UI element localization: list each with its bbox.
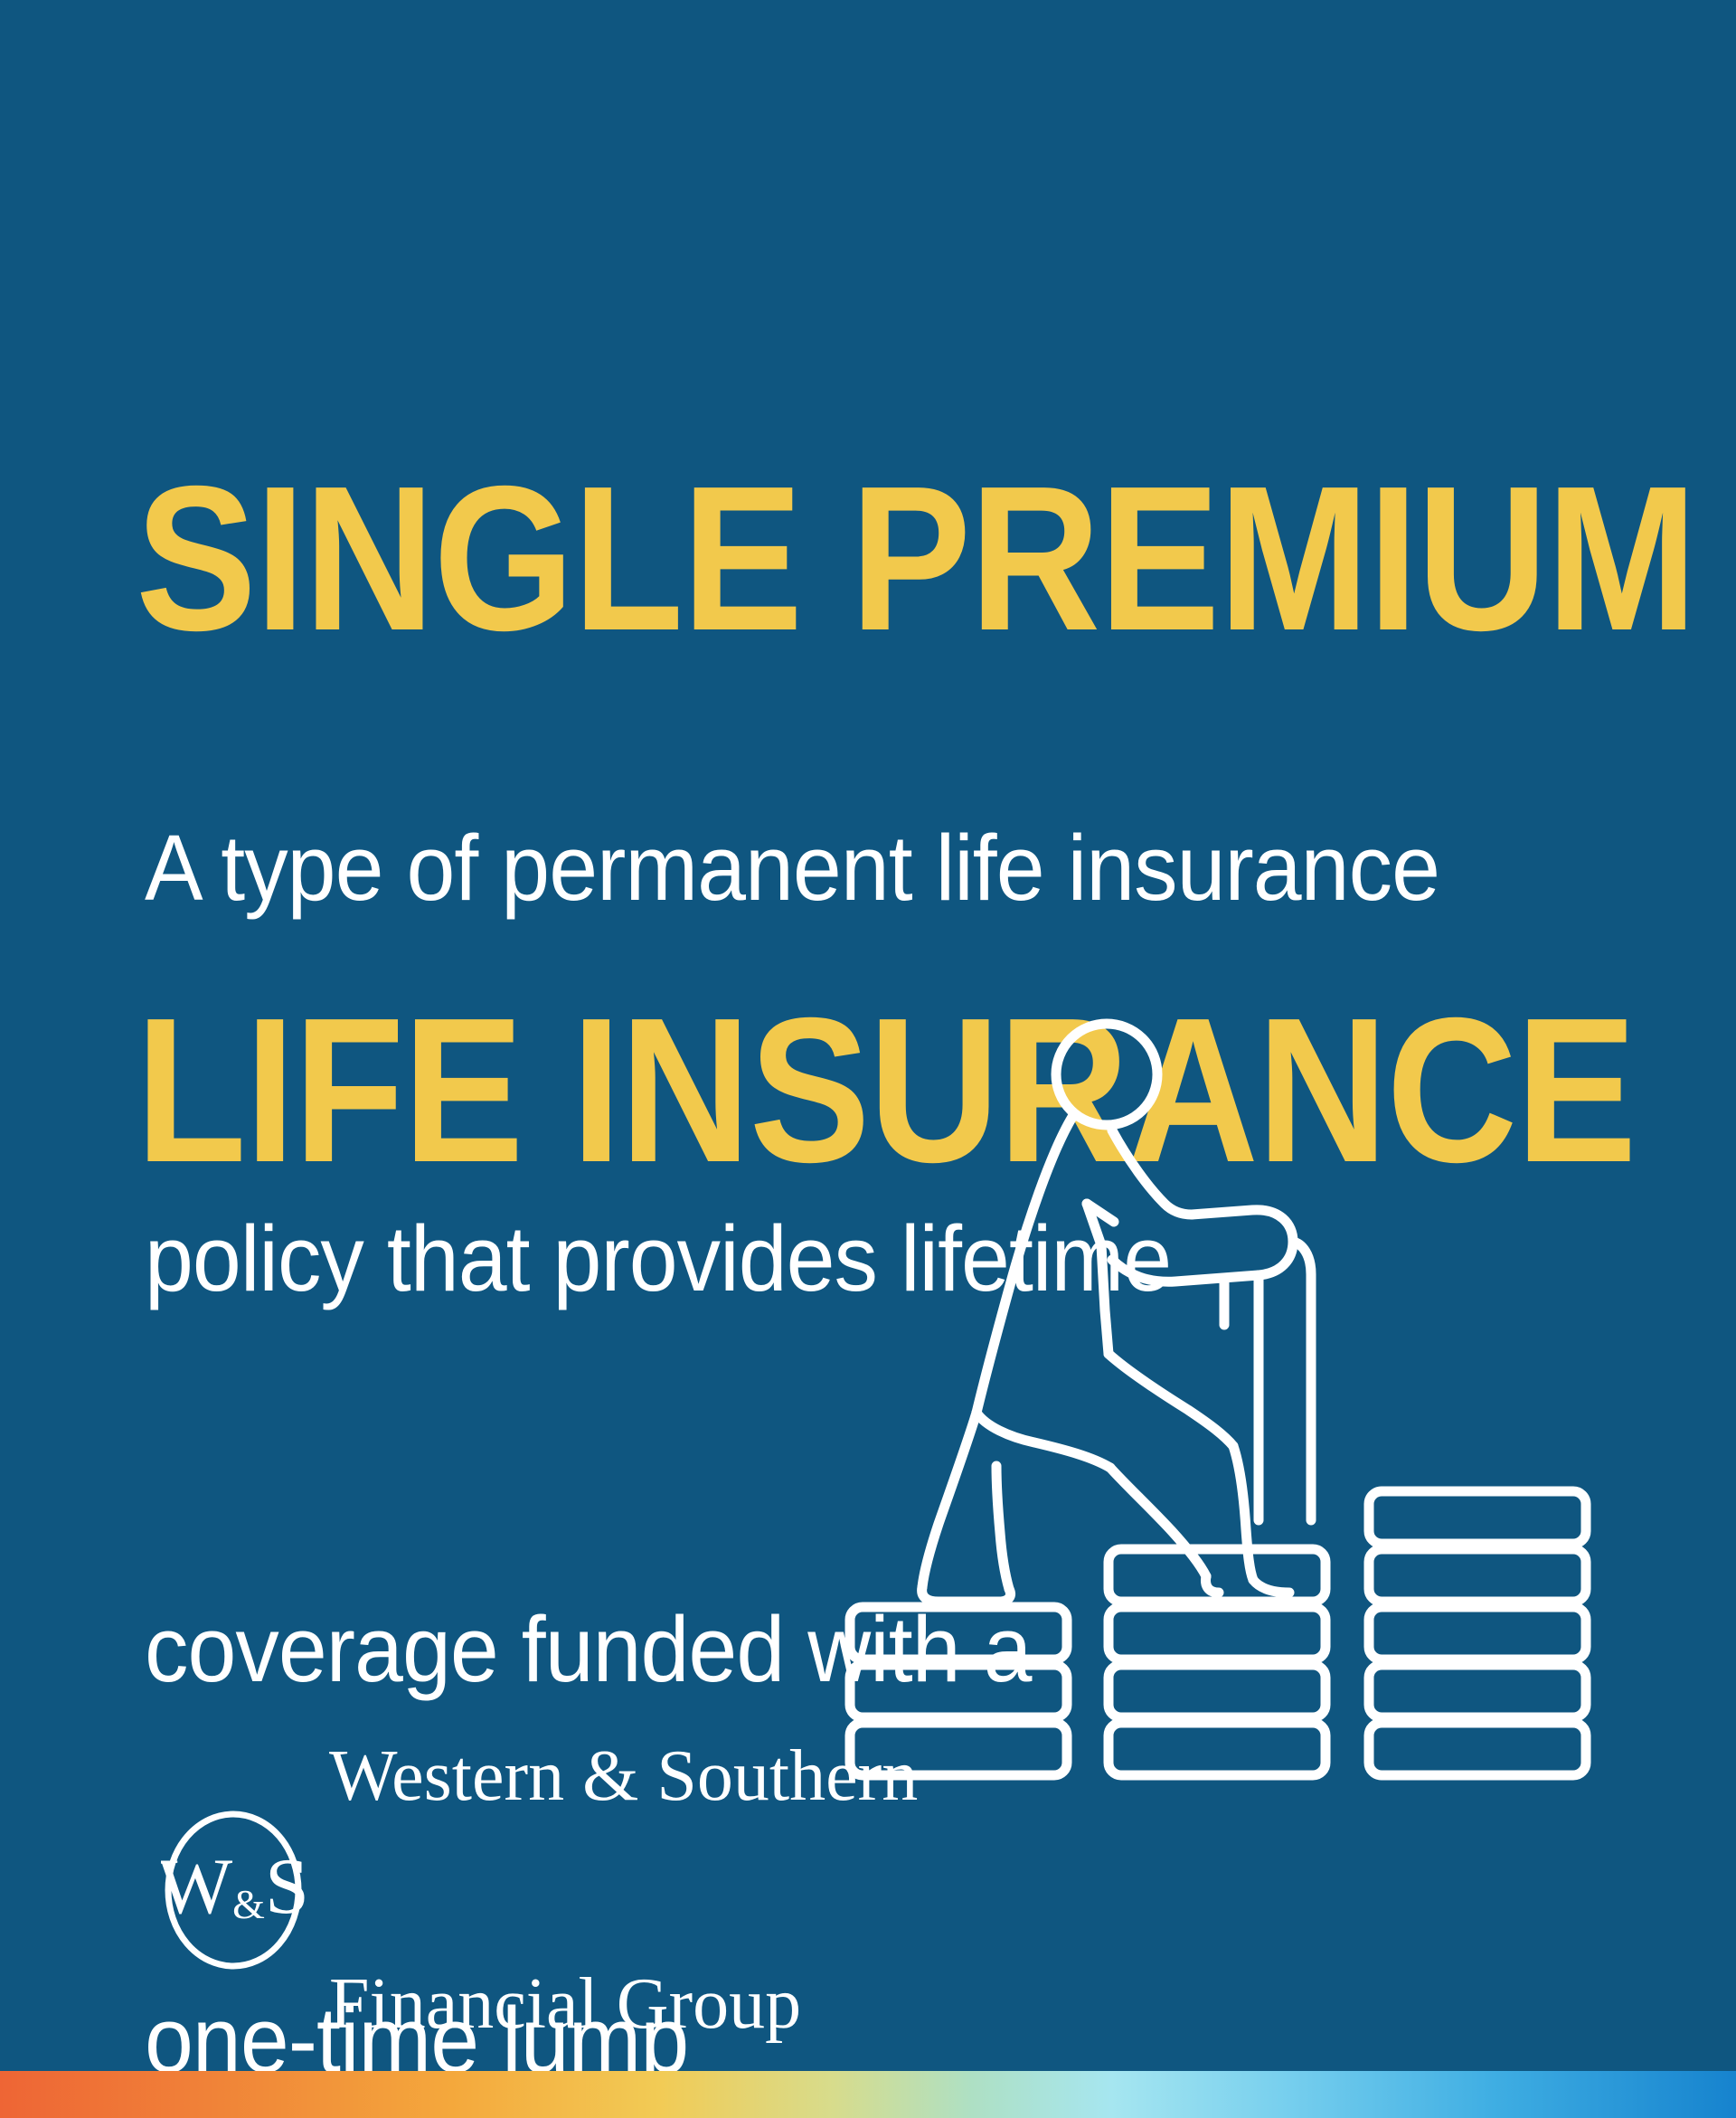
figure-rear-foot xyxy=(922,1587,1011,1602)
logo-monogram-text: W&S xyxy=(161,1843,306,1931)
ws-monogram-icon: W&S xyxy=(161,1809,306,1971)
bottom-gradient-bar xyxy=(0,2071,1736,2118)
brand-name-line-1: Western & Southern xyxy=(329,1738,918,1814)
figure-rear-leg-shin xyxy=(922,1413,976,1587)
brand-logo: W&S Western & Southern Financial Group xyxy=(161,1809,918,1971)
coin xyxy=(1109,1723,1326,1775)
brand-name-line-2: Financial Group xyxy=(329,1966,918,2042)
figure-rear-leg-thigh xyxy=(976,1413,1110,1468)
coin xyxy=(1369,1607,1586,1659)
coin xyxy=(1369,1549,1586,1602)
figure-torso-back xyxy=(976,1117,1072,1413)
figure-front-foot-heel xyxy=(1206,1576,1219,1593)
figure-front-foot xyxy=(1253,1580,1289,1593)
description-line-1: A type of permanent life insurance xyxy=(145,803,1590,933)
coin xyxy=(1109,1607,1326,1659)
coin-stack-3 xyxy=(1369,1491,1586,1775)
coin xyxy=(1369,1665,1586,1717)
figure-arm-upper xyxy=(1192,1210,1293,1275)
figure-head-icon xyxy=(1056,1024,1157,1125)
coin-stack-2 xyxy=(1109,1549,1326,1775)
figure-hand-lower xyxy=(1087,1204,1109,1354)
figure-front-leg-thigh xyxy=(1109,1354,1233,1446)
person-climbing-coin-stacks-illustration xyxy=(841,1017,1618,1782)
figure-arm-forearm xyxy=(1112,1260,1259,1281)
figure-torso-front xyxy=(1112,1130,1192,1215)
figure-front-leg-shin xyxy=(1233,1446,1253,1580)
poster-canvas: SINGLE PREMIUM LIFE INSURANCE A type of … xyxy=(0,0,1736,2118)
pushed-block xyxy=(1293,1242,1311,1520)
coin xyxy=(1369,1491,1586,1544)
figure-front-leg-back xyxy=(1110,1468,1206,1576)
figure-rear-leg-inner xyxy=(996,1466,1009,1589)
brand-name: Western & Southern Financial Group xyxy=(329,1586,918,2118)
coin xyxy=(1369,1723,1586,1775)
coin xyxy=(1109,1665,1326,1717)
